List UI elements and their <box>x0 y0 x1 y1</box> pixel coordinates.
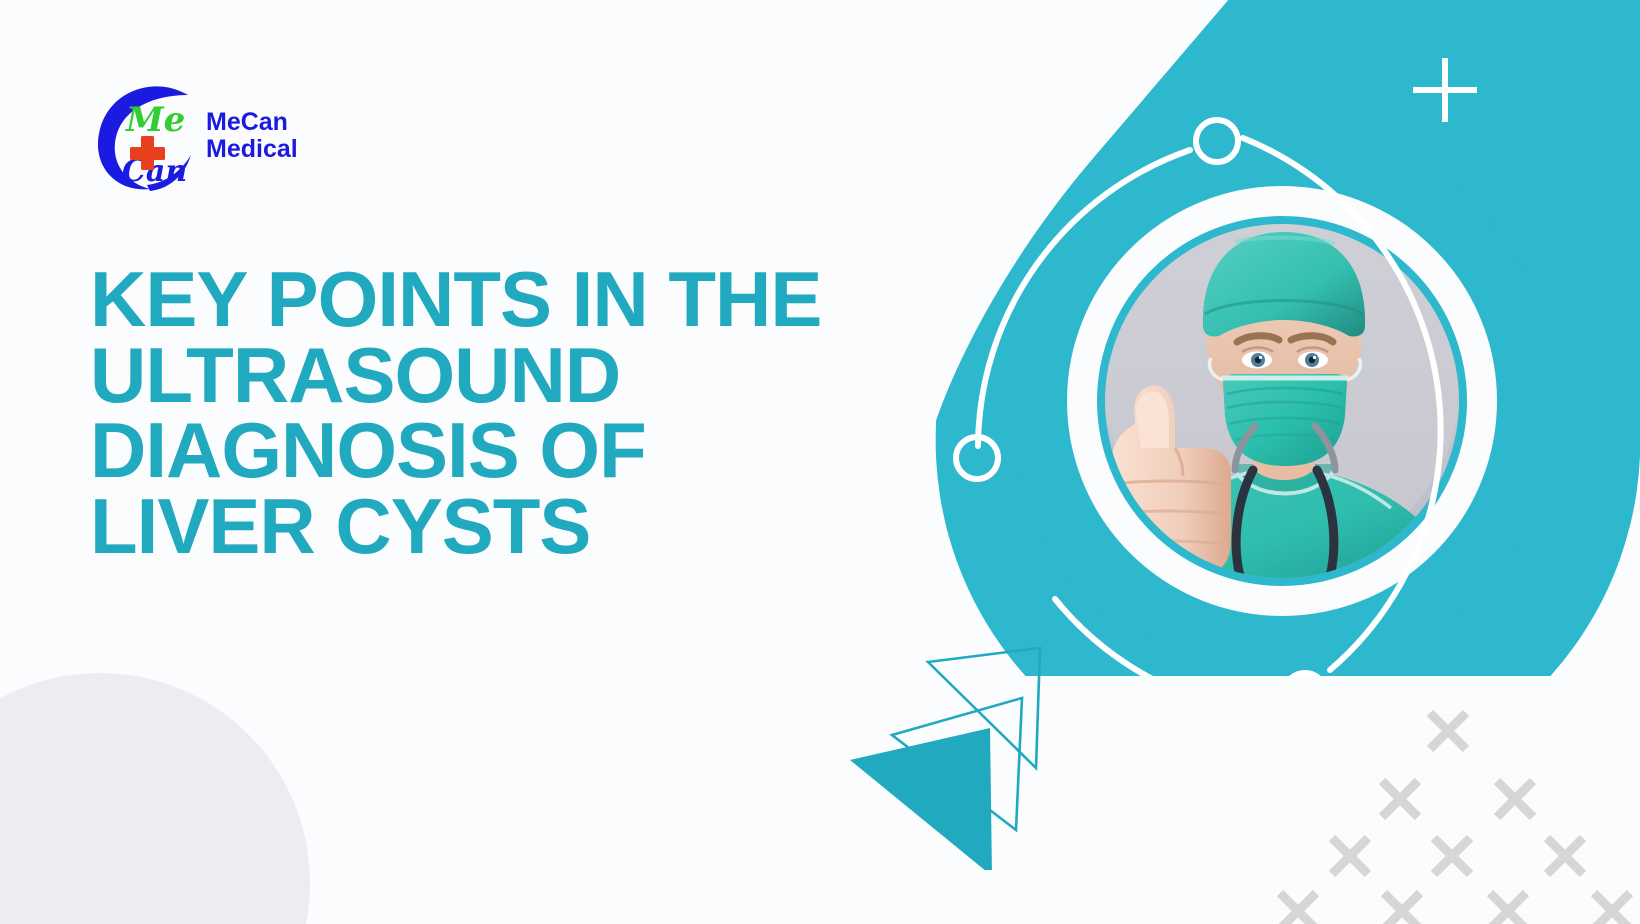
logo-mark-icon: Me Can <box>92 81 200 191</box>
grey-circle-decoration <box>0 673 310 924</box>
title-line-3: DIAGNOSIS OF <box>90 413 970 489</box>
title-line-4: LIVER CYSTS <box>90 489 970 565</box>
hero-graphic <box>935 0 1640 676</box>
svg-text:Me: Me <box>125 100 185 140</box>
logo-line-1: MeCan <box>206 109 298 136</box>
banner-canvas: Me Can MeCan Medical KEY POINTS IN THE U… <box>0 0 1640 924</box>
x-pattern-decoration <box>1220 684 1640 924</box>
logo-wordmark: MeCan Medical <box>206 109 298 163</box>
triangle-decoration-group <box>840 640 1070 870</box>
triangle-solid <box>850 728 992 870</box>
title-line-1: KEY POINTS IN THE <box>90 262 970 338</box>
page-title: KEY POINTS IN THE ULTRASOUND DIAGNOSIS O… <box>90 262 970 565</box>
title-line-2: ULTRASOUND <box>90 338 970 414</box>
logo[interactable]: Me Can MeCan Medical <box>92 78 317 193</box>
logo-line-2: Medical <box>206 136 298 163</box>
